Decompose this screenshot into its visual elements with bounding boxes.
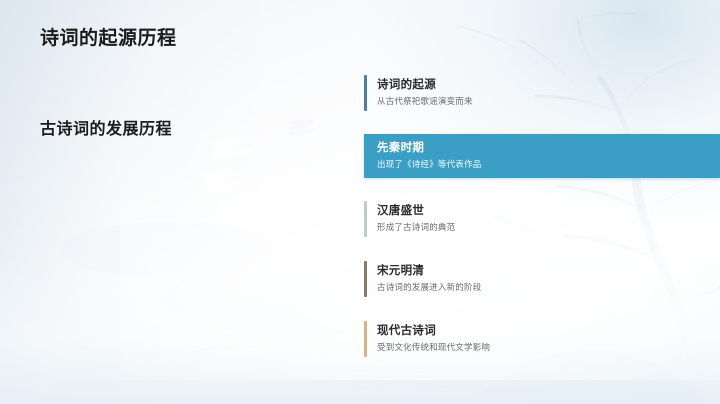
timeline-item-desc-5: 受到文化传统和现代文学影响	[377, 343, 720, 354]
timeline-item-title-3: 汉唐盛世	[377, 203, 720, 219]
accent-bar-icon-5	[364, 321, 367, 357]
timeline-item-5[interactable]: 现代古诗词 受到文化传统和现代文学影响	[364, 320, 720, 358]
timeline-item-title-2: 先秦时期	[377, 140, 720, 156]
timeline-item-2[interactable]: 先秦时期 出现了《诗经》等代表作品	[364, 134, 720, 178]
page-subtitle: 古诗词的发展历程	[40, 51, 340, 140]
accent-bar-icon-4	[364, 261, 367, 297]
timeline-list: 诗词的起源 从古代祭祀歌谣演变而来 先秦时期 出现了《诗经》等代表作品 汉唐盛世…	[364, 74, 720, 358]
timeline-item-3[interactable]: 汉唐盛世 形成了古诗词的典范	[364, 200, 720, 238]
timeline-item-desc-4: 古诗词的发展进入新的阶段	[377, 283, 720, 294]
accent-bar-icon-3	[364, 201, 367, 237]
slide-headings: 诗词的起源历程 古诗词的发展历程	[40, 26, 340, 139]
timeline-item-desc-2: 出现了《诗经》等代表作品	[377, 160, 720, 171]
timeline-item-desc-3: 形成了古诗词的典范	[377, 223, 720, 234]
timeline-item-title-1: 诗词的起源	[377, 77, 720, 93]
slide-canvas: 诗词的起源历程 古诗词的发展历程 诗词的起源 从古代祭祀歌谣演变而来 先秦时期 …	[0, 0, 720, 404]
page-title: 诗词的起源历程	[40, 26, 340, 51]
timeline-item-title-4: 宋元明清	[377, 263, 720, 279]
accent-bar-icon-1	[364, 75, 367, 111]
timeline-item-4[interactable]: 宋元明清 古诗词的发展进入新的阶段	[364, 260, 720, 298]
timeline-item-desc-1: 从古代祭祀歌谣演变而来	[377, 97, 720, 108]
timeline-item-title-5: 现代古诗词	[377, 323, 720, 339]
timeline-item-1[interactable]: 诗词的起源 从古代祭祀歌谣演变而来	[364, 74, 720, 112]
